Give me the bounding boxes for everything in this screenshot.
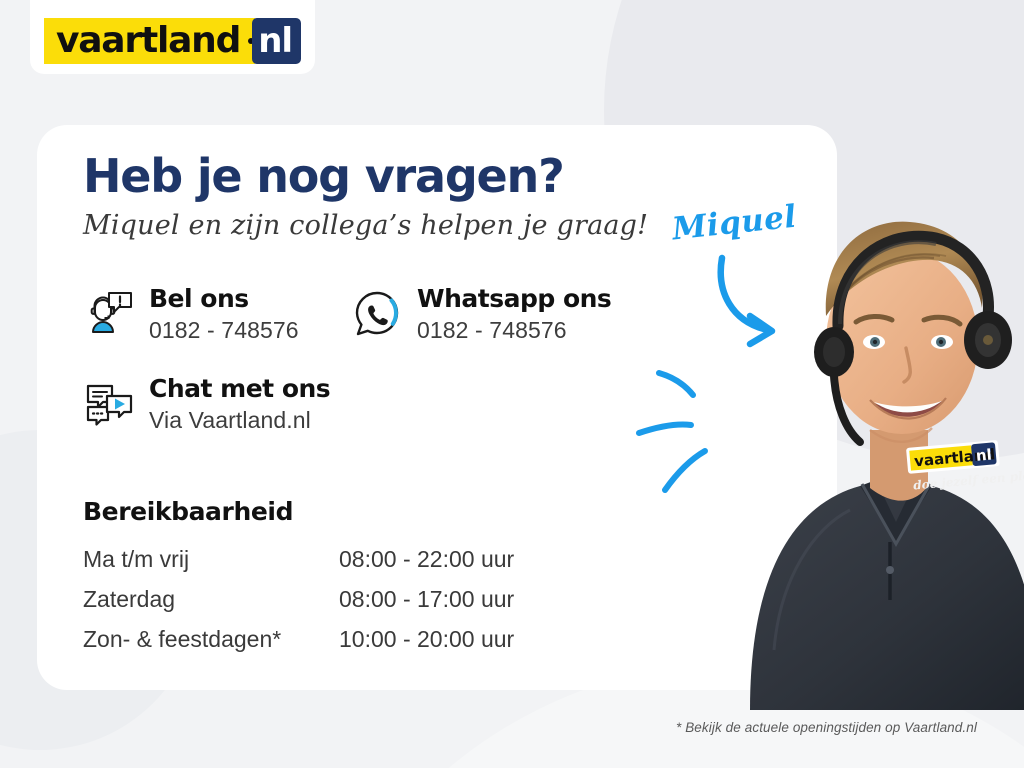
- vaartland-logo: vaartland nl: [44, 18, 301, 64]
- contact-whatsapp-title: Whatsapp ons: [417, 284, 611, 313]
- hours-time: 08:00 - 22:00 uur: [339, 540, 514, 580]
- contact-chat[interactable]: Chat met ons Via Vaartland.nl: [83, 373, 330, 434]
- contact-chat-detail[interactable]: Via Vaartland.nl: [149, 407, 330, 434]
- agent-portrait: vaartland nl doe jezelf een plezier: [710, 130, 1024, 710]
- contact-call-number[interactable]: 0182 - 748576: [149, 317, 299, 344]
- contact-call[interactable]: Bel ons 0182 - 748576: [83, 283, 299, 344]
- contact-whatsapp-text: Whatsapp ons 0182 - 748576: [417, 283, 611, 344]
- contact-chat-title: Chat met ons: [149, 374, 330, 403]
- contact-call-title: Bel ons: [149, 284, 249, 313]
- brand-logo-card[interactable]: vaartland nl: [30, 0, 315, 74]
- hours-day: Zaterdag: [83, 580, 339, 620]
- hours-day: Zon- & feestdagen*: [83, 620, 339, 660]
- logo-word: vaartland: [44, 18, 248, 64]
- svg-text:nl: nl: [975, 446, 992, 465]
- hours-table: Ma t/m vrij 08:00 - 22:00 uur Zaterdag 0…: [83, 540, 514, 660]
- table-row: Zaterdag 08:00 - 17:00 uur: [83, 580, 514, 620]
- agent-photo-area: Miquel: [600, 100, 1024, 700]
- promo-banner: vaartland nl Heb je nog vragen? Miquel e…: [0, 0, 1024, 768]
- chat-bubbles-icon: [83, 377, 135, 429]
- contact-chat-text: Chat met ons Via Vaartland.nl: [149, 373, 330, 434]
- contact-whatsapp-number[interactable]: 0182 - 748576: [417, 317, 611, 344]
- hours-time: 10:00 - 20:00 uur: [339, 620, 514, 660]
- whatsapp-icon: [351, 287, 403, 339]
- page-subtitle: Miquel en zijn collega’s helpen je graag…: [83, 210, 648, 241]
- page-title: Heb je nog vragen?: [83, 153, 564, 199]
- logo-tld: nl: [252, 18, 301, 64]
- footnote-text: * Bekijk de actuele openingstijden op Va…: [676, 720, 977, 735]
- table-row: Ma t/m vrij 08:00 - 22:00 uur: [83, 540, 514, 580]
- hours-heading: Bereikbaarheid: [83, 497, 293, 526]
- contact-call-text: Bel ons 0182 - 748576: [149, 283, 299, 344]
- hours-time: 08:00 - 17:00 uur: [339, 580, 514, 620]
- contact-whatsapp[interactable]: Whatsapp ons 0182 - 748576: [351, 283, 611, 344]
- table-row: Zon- & feestdagen* 10:00 - 20:00 uur: [83, 620, 514, 660]
- hours-day: Ma t/m vrij: [83, 540, 339, 580]
- headset-person-icon: [83, 287, 135, 339]
